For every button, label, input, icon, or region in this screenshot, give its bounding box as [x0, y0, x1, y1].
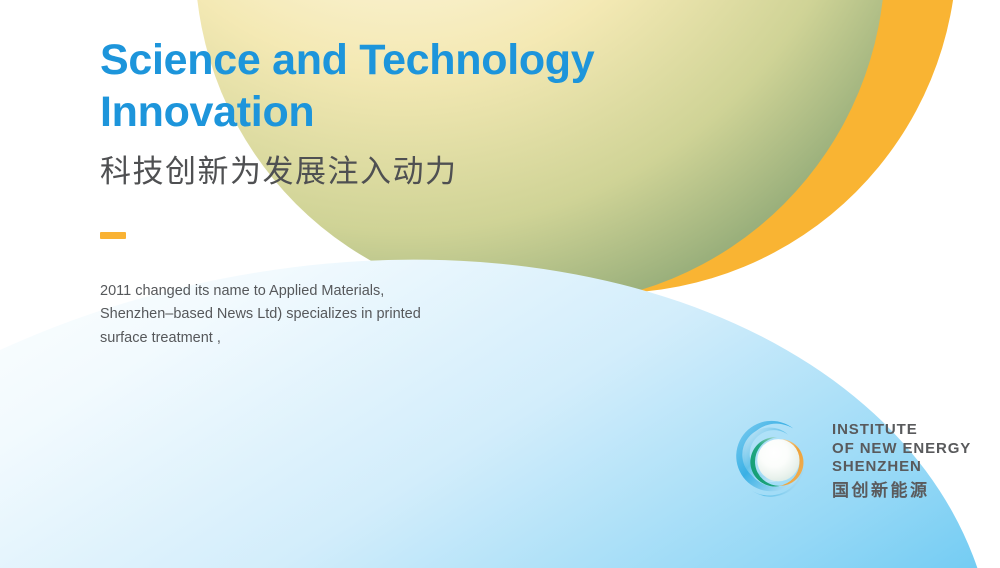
presentation-slide: Science and Technology Innovation 科技创新为发…	[0, 0, 1000, 568]
body-paragraph: 2011 changed its name to Applied Materia…	[100, 280, 440, 350]
page-title: Science and Technology Innovation	[100, 34, 720, 139]
globe-sphere-icon	[730, 418, 818, 506]
slide-content: Science and Technology Innovation 科技创新为发…	[100, 34, 720, 365]
accent-divider	[100, 232, 126, 239]
subtitle-chinese: 科技创新为发展注入动力	[100, 153, 720, 192]
institute-logo: INSTITUTE OF NEW ENERGY SHENZHEN 国创新能源	[730, 418, 971, 506]
logo-line-shenzhen: SHENZHEN	[832, 458, 971, 477]
logo-line-institute: INSTITUTE	[832, 421, 971, 440]
logo-line-of-new-energy: OF NEW ENERGY	[832, 440, 971, 459]
logo-line-chinese: 国创新能源	[832, 480, 971, 503]
logo-wordmark: INSTITUTE OF NEW ENERGY SHENZHEN 国创新能源	[832, 421, 971, 503]
